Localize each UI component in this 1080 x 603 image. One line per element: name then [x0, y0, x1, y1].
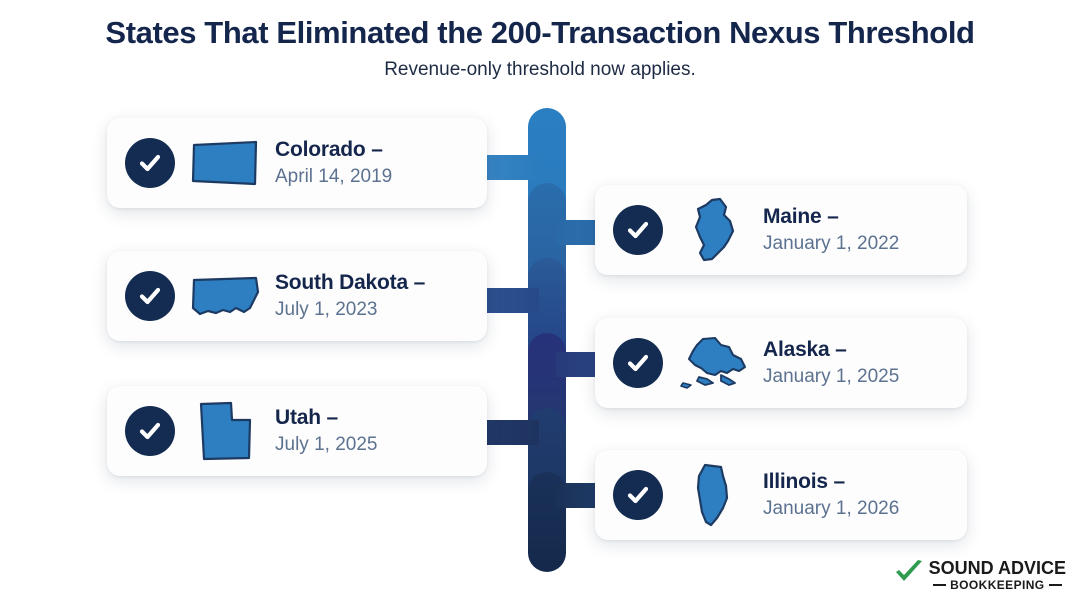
card-text: Alaska – January 1, 2025	[763, 338, 899, 387]
timeline-card-alaska[interactable]: Alaska – January 1, 2025	[595, 318, 967, 408]
maine-map-icon	[677, 199, 749, 261]
state-date: January 1, 2022	[763, 233, 899, 255]
state-name: Illinois –	[763, 470, 899, 494]
timeline-card-illinois[interactable]: Illinois – January 1, 2026	[595, 450, 967, 540]
card-text: Colorado – April 14, 2019	[275, 138, 392, 187]
state-date: July 1, 2023	[275, 299, 425, 321]
logo-line-2-wrap: BOOKKEEPING	[929, 579, 1066, 591]
check-icon	[125, 138, 175, 188]
check-icon	[125, 406, 175, 456]
card-text: Maine – January 1, 2022	[763, 205, 899, 254]
illinois-map-icon	[677, 464, 749, 526]
state-name: Maine –	[763, 205, 899, 229]
south-dakota-map-icon	[189, 265, 261, 327]
logo-text: SOUND ADVICE BOOKKEEPING	[929, 559, 1066, 591]
colorado-map-icon	[189, 132, 261, 194]
timeline-card-maine[interactable]: Maine – January 1, 2022	[595, 185, 967, 275]
logo-line-1: SOUND ADVICE	[929, 559, 1066, 577]
page-title: States That Eliminated the 200-Transacti…	[0, 16, 1080, 51]
logo-rule-left	[933, 584, 946, 586]
state-name: Utah –	[275, 406, 377, 430]
check-icon	[613, 338, 663, 388]
card-text: South Dakota – July 1, 2023	[275, 271, 425, 320]
page-subtitle: Revenue-only threshold now applies.	[0, 59, 1080, 81]
check-icon	[613, 205, 663, 255]
timeline-card-colorado[interactable]: Colorado – April 14, 2019	[107, 118, 487, 208]
card-text: Illinois – January 1, 2026	[763, 470, 899, 519]
timeline-card-utah[interactable]: Utah – July 1, 2025	[107, 386, 487, 476]
logo-line-2: BOOKKEEPING	[950, 579, 1044, 591]
state-date: July 1, 2025	[275, 434, 377, 456]
state-name: South Dakota –	[275, 271, 425, 295]
green-checkmark-icon	[894, 560, 924, 591]
state-date: January 1, 2026	[763, 498, 899, 520]
header: States That Eliminated the 200-Transacti…	[0, 0, 1080, 81]
state-date: January 1, 2025	[763, 366, 899, 388]
state-name: Colorado –	[275, 138, 392, 162]
check-icon	[613, 470, 663, 520]
utah-map-icon	[189, 400, 261, 462]
alaska-map-icon	[677, 332, 749, 394]
brand-logo[interactable]: SOUND ADVICE BOOKKEEPING	[894, 559, 1066, 591]
logo-rule-right	[1049, 584, 1062, 586]
card-text: Utah – July 1, 2025	[275, 406, 377, 455]
state-name: Alaska –	[763, 338, 899, 362]
timeline-card-south-dakota[interactable]: South Dakota – July 1, 2023	[107, 251, 487, 341]
state-date: April 14, 2019	[275, 166, 392, 188]
check-icon	[125, 271, 175, 321]
